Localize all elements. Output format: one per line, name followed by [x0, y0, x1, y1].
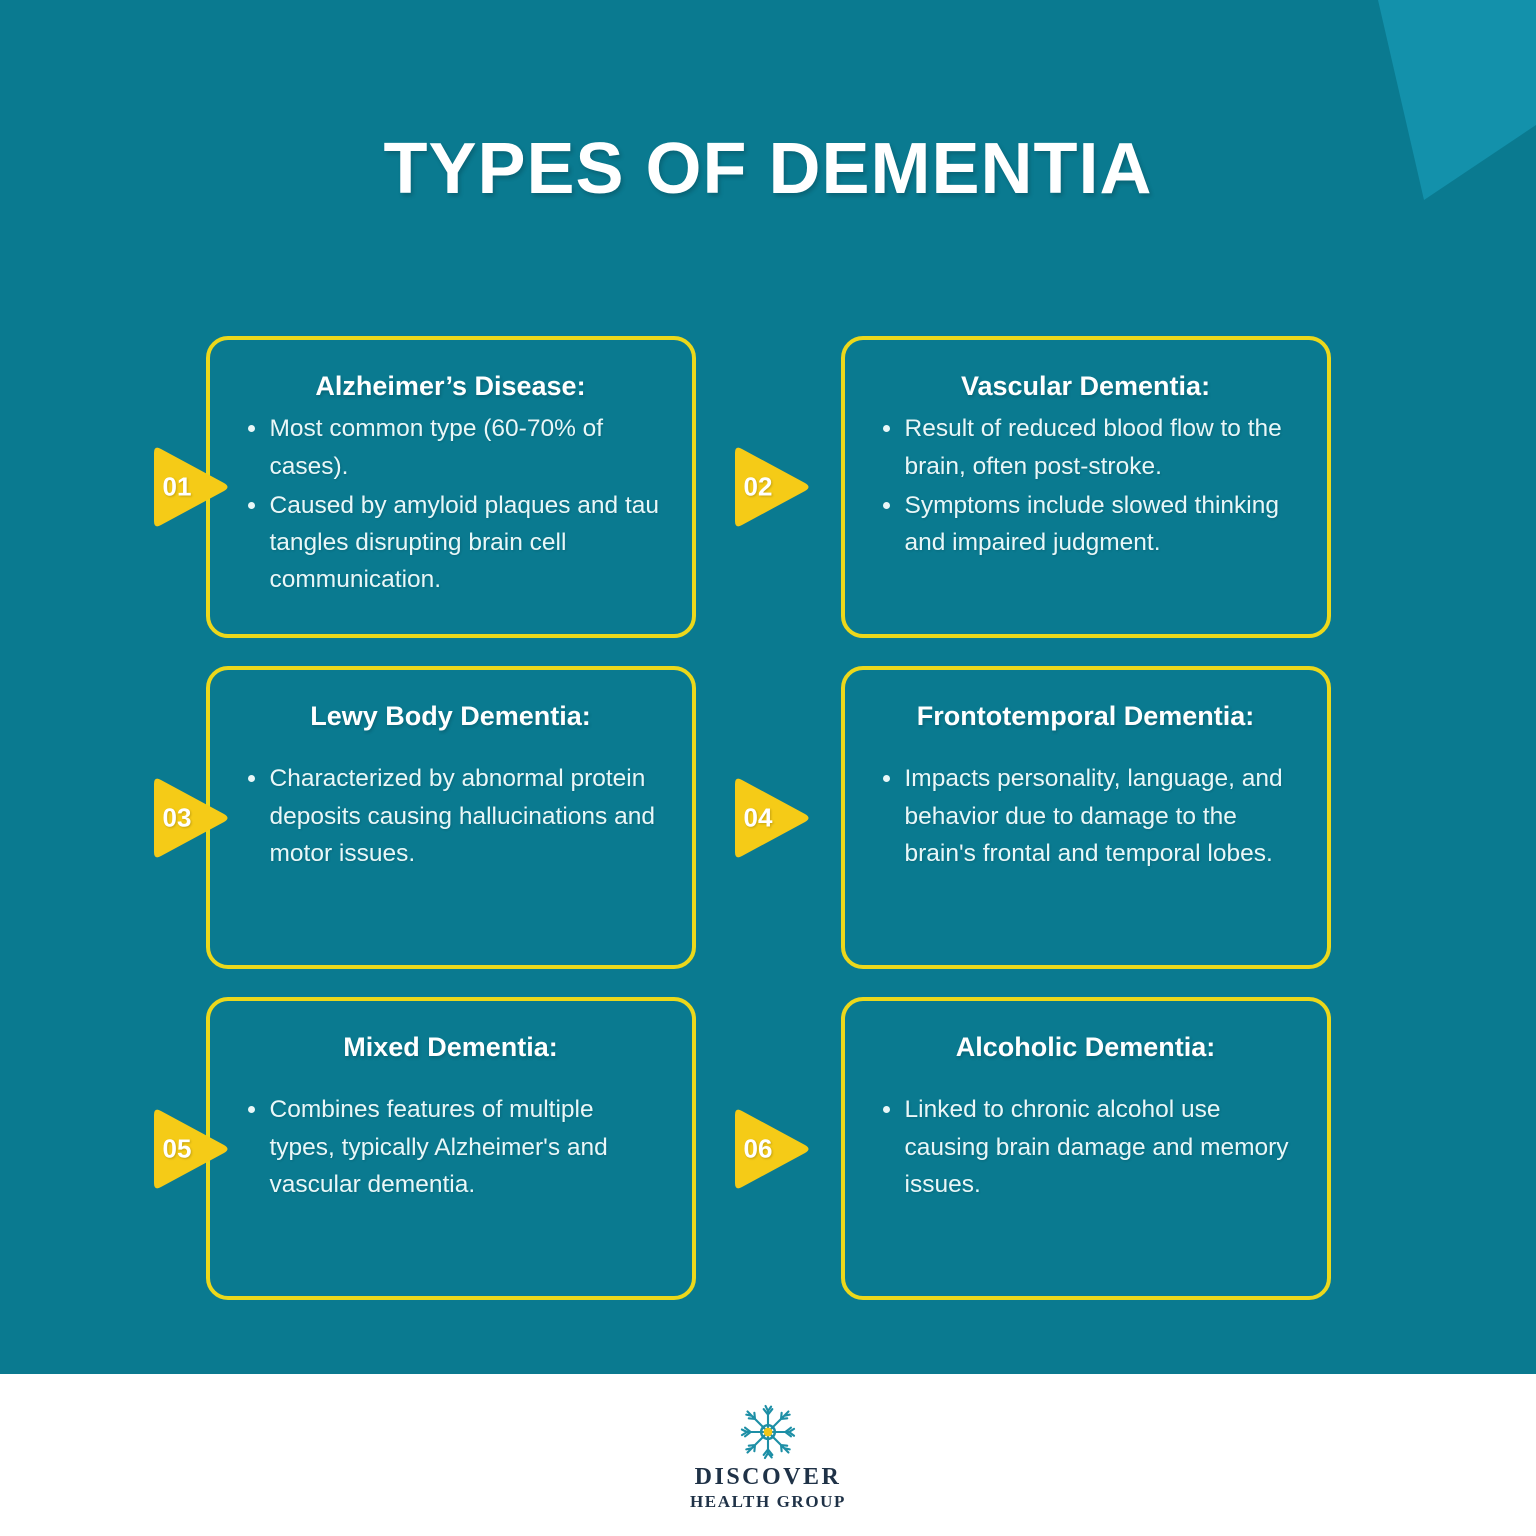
list-item: Caused by amyloid plaques and tau tangle… [240, 487, 662, 599]
step-badge-05[interactable]: 05 [140, 1103, 232, 1195]
card-bullet-list: Impacts personality, language, and behav… [875, 760, 1297, 872]
step-badge-06[interactable]: 06 [721, 1103, 813, 1195]
infographic-page: TYPES OF DEMENTIA Alzheimer’s Disease: M… [0, 0, 1536, 1536]
list-item: Characterized by abnormal protein deposi… [240, 760, 662, 872]
neuron-icon [737, 1401, 799, 1463]
card-title: Frontotemporal Dementia: [875, 700, 1297, 732]
brand-tagline: HEALTH GROUP [690, 1493, 846, 1510]
card-01[interactable]: Alzheimer’s Disease: Most common type (6… [206, 336, 696, 638]
card-06[interactable]: Alcoholic Dementia: Linked to chronic al… [841, 997, 1331, 1300]
step-badge-03[interactable]: 03 [140, 772, 232, 864]
footer-brand-bar: DISCOVER HEALTH GROUP [0, 1374, 1536, 1536]
card-02[interactable]: Vascular Dementia: Result of reduced blo… [841, 336, 1331, 638]
card-bullet-list: Combines features of multiple types, typ… [240, 1091, 662, 1203]
card-title: Alzheimer’s Disease: [240, 370, 662, 402]
list-item: Impacts personality, language, and behav… [875, 760, 1297, 872]
card-bullet-list: Most common type (60-70% of cases). Caus… [240, 410, 662, 598]
list-item: Symptoms include slowed thinking and imp… [875, 487, 1297, 561]
list-item: Result of reduced blood flow to the brai… [875, 410, 1297, 484]
page-title: TYPES OF DEMENTIA [0, 132, 1536, 208]
list-item: Most common type (60-70% of cases). [240, 410, 662, 484]
step-badge-02[interactable]: 02 [721, 441, 813, 533]
step-number: 03 [148, 802, 206, 833]
cards-row-2: Lewy Body Dementia: Characterized by abn… [0, 666, 1536, 969]
card-title: Vascular Dementia: [875, 370, 1297, 402]
step-number: 01 [148, 472, 206, 503]
step-number: 05 [148, 1133, 206, 1164]
card-title: Lewy Body Dementia: [240, 700, 662, 732]
brand-name: DISCOVER [695, 1465, 842, 1489]
card-bullet-list: Result of reduced blood flow to the brai… [875, 410, 1297, 561]
card-title: Mixed Dementia: [240, 1031, 662, 1063]
card-bullet-list: Linked to chronic alcohol use causing br… [875, 1091, 1297, 1203]
cards-grid: Alzheimer’s Disease: Most common type (6… [0, 336, 1536, 1300]
step-number: 04 [729, 802, 787, 833]
step-badge-04[interactable]: 04 [721, 772, 813, 864]
card-title: Alcoholic Dementia: [875, 1031, 1297, 1063]
cards-row-3: Mixed Dementia: Combines features of mul… [0, 997, 1536, 1300]
card-03[interactable]: Lewy Body Dementia: Characterized by abn… [206, 666, 696, 969]
card-04[interactable]: Frontotemporal Dementia: Impacts persona… [841, 666, 1331, 969]
card-05[interactable]: Mixed Dementia: Combines features of mul… [206, 997, 696, 1300]
card-bullet-list: Characterized by abnormal protein deposi… [240, 760, 662, 872]
step-number: 02 [729, 472, 787, 503]
list-item: Linked to chronic alcohol use causing br… [875, 1091, 1297, 1203]
cards-row-1: Alzheimer’s Disease: Most common type (6… [0, 336, 1536, 638]
list-item: Combines features of multiple types, typ… [240, 1091, 662, 1203]
step-badge-01[interactable]: 01 [140, 441, 232, 533]
step-number: 06 [729, 1133, 787, 1164]
